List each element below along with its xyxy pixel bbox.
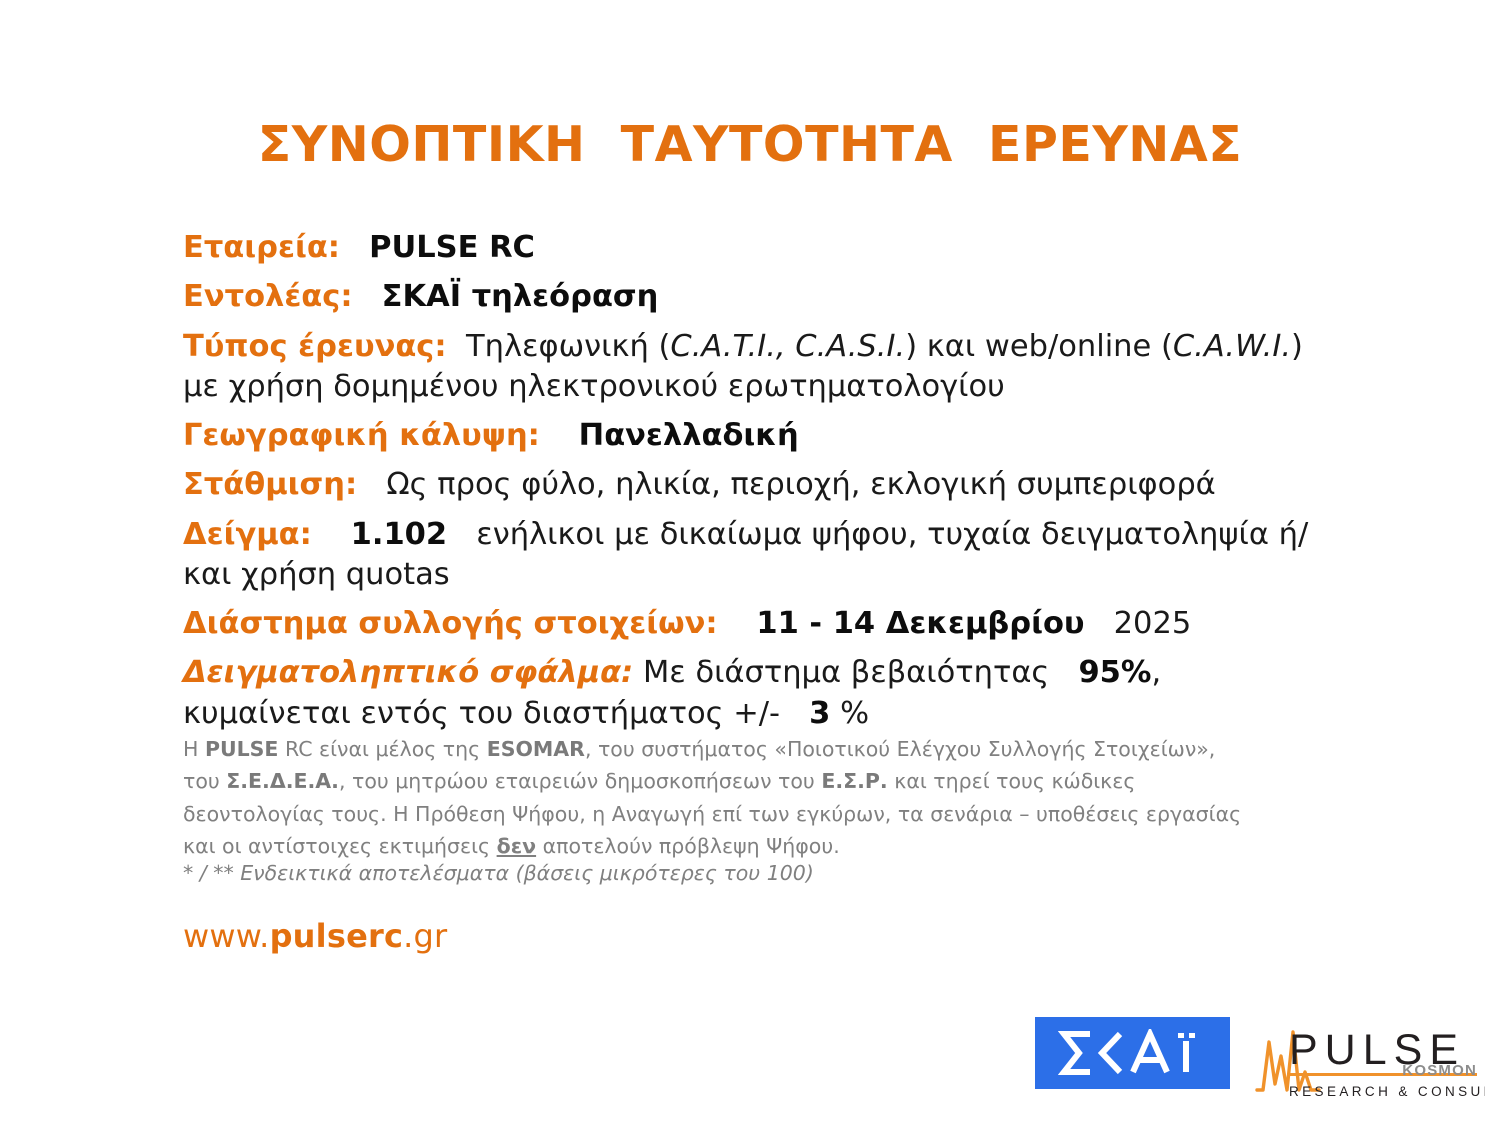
svg-text:RESEARCH & CONSULTING: RESEARCH & CONSULTING — [1289, 1084, 1485, 1099]
disclaimer-esr: Ε.Σ.Ρ. — [821, 769, 887, 793]
svg-text:KOSMON: KOSMON — [1402, 1062, 1477, 1079]
field-survey-type-label: Τύπος έρευνας: — [183, 329, 447, 364]
disclaimer-part1: Η — [183, 737, 205, 761]
field-sampling-error-margin: 3 — [809, 696, 830, 731]
field-survey-type: Τύπος έρευνας: Τηλεφωνική (C.A.T.I., C.A… — [183, 327, 1313, 408]
field-company-label: Εταιρεία: — [183, 230, 340, 265]
logo-row: PULSE KOSMON RESEARCH & CONSULTING — [1035, 1012, 1485, 1112]
field-coverage-value: Πανελλαδική — [579, 418, 799, 453]
url-domain: pulserc — [270, 917, 404, 955]
field-coverage: Γεωγραφική κάλυψη: Πανελλαδική — [183, 416, 1313, 456]
asterisk-note: * / ** Ενδεικτικά αποτελέσματα (βάσεις μ… — [183, 858, 814, 889]
skai-logo — [1035, 1017, 1230, 1089]
page-title: ΣΥΝΟΠΤΙΚΗ ΤΑΥΤΟΤΗΤΑ ΕΡΕΥΝΑΣ — [0, 118, 1500, 172]
slide-root: ΣΥΝΟΠΤΙΚΗ ΤΑΥΤΟΤΗΤΑ ΕΡΕΥΝΑΣ Εταιρεία: PU… — [0, 0, 1500, 1125]
website-url[interactable]: www.pulserc.gr — [183, 917, 447, 955]
field-client-label: Εντολέας: — [183, 279, 353, 314]
field-company: Εταιρεία: PULSE RC — [183, 228, 1313, 268]
disclaimer-den-emphasis: δεν — [497, 834, 536, 858]
field-weighting: Στάθμιση: Ως προς φύλο, ηλικία, περιοχή,… — [183, 465, 1313, 505]
field-fieldwork: Διάστημα συλλογής στοιχείων: 11 - 14 Δεκ… — [183, 604, 1313, 644]
field-survey-type-value-b: ) και web/online ( — [905, 329, 1173, 364]
field-sampling-error-label: Δειγματοληπτικό σφάλμα: — [183, 655, 633, 690]
field-survey-type-cawi: C.A.W.I. — [1173, 329, 1291, 364]
field-sampling-error: Δειγματοληπτικό σφάλμα: Με διάστημα βεβα… — [183, 653, 1313, 734]
field-sample: Δείγμα: 1.102 ενήλικοι με δικαίωμα ψήφου… — [183, 515, 1313, 596]
field-survey-type-value-a: Τηλεφωνική ( — [466, 329, 670, 364]
disclaimer-pulse: PULSE — [205, 737, 279, 761]
disclaimer-esomar: ESOMAR — [487, 737, 585, 761]
url-suffix: .gr — [403, 917, 447, 955]
field-survey-type-cati-casi: C.A.T.I., C.A.S.I. — [670, 329, 905, 364]
field-company-value: PULSE RC — [369, 230, 535, 265]
url-prefix: www. — [183, 917, 270, 955]
field-fieldwork-dates: 11 - 14 Δεκεμβρίου — [756, 606, 1084, 641]
disclaimer-part6: αποτελούν πρόβλεψη Ψήφου. — [536, 834, 840, 858]
field-client-value: ΣΚΑΪ τηλεόραση — [382, 279, 659, 314]
field-sample-label: Δείγμα: — [183, 517, 312, 552]
survey-details-block: Εταιρεία: PULSE RC Εντολέας: ΣΚΑΪ τηλεόρ… — [183, 228, 1313, 743]
field-sample-size: 1.102 — [351, 517, 447, 552]
field-weighting-label: Στάθμιση: — [183, 467, 357, 502]
field-fieldwork-year: 2025 — [1114, 606, 1192, 641]
pulse-logo: PULSE KOSMON RESEARCH & CONSULTING — [1253, 1012, 1485, 1108]
disclaimer-part2: RC είναι μέλος της — [278, 737, 486, 761]
disclaimer-paragraph: Η PULSE RC είναι μέλος της ESOMAR, του σ… — [183, 733, 1243, 863]
field-coverage-label: Γεωγραφική κάλυψη: — [183, 418, 540, 453]
field-sampling-error-value-a: Με διάστημα βεβαιότητας — [643, 655, 1049, 690]
field-sampling-error-value-c: % — [840, 696, 869, 731]
disclaimer-sedea: Σ.Ε.Δ.Ε.Α. — [226, 769, 339, 793]
disclaimer-part4: , του μητρώου εταιρειών δημοσκοπήσεων το… — [339, 769, 821, 793]
field-weighting-value: Ως προς φύλο, ηλικία, περιοχή, εκλογική … — [386, 467, 1215, 502]
field-fieldwork-label: Διάστημα συλλογής στοιχείων: — [183, 606, 718, 641]
field-client: Εντολέας: ΣΚΑΪ τηλεόραση — [183, 277, 1313, 317]
field-sampling-error-confidence: 95% — [1078, 655, 1151, 690]
